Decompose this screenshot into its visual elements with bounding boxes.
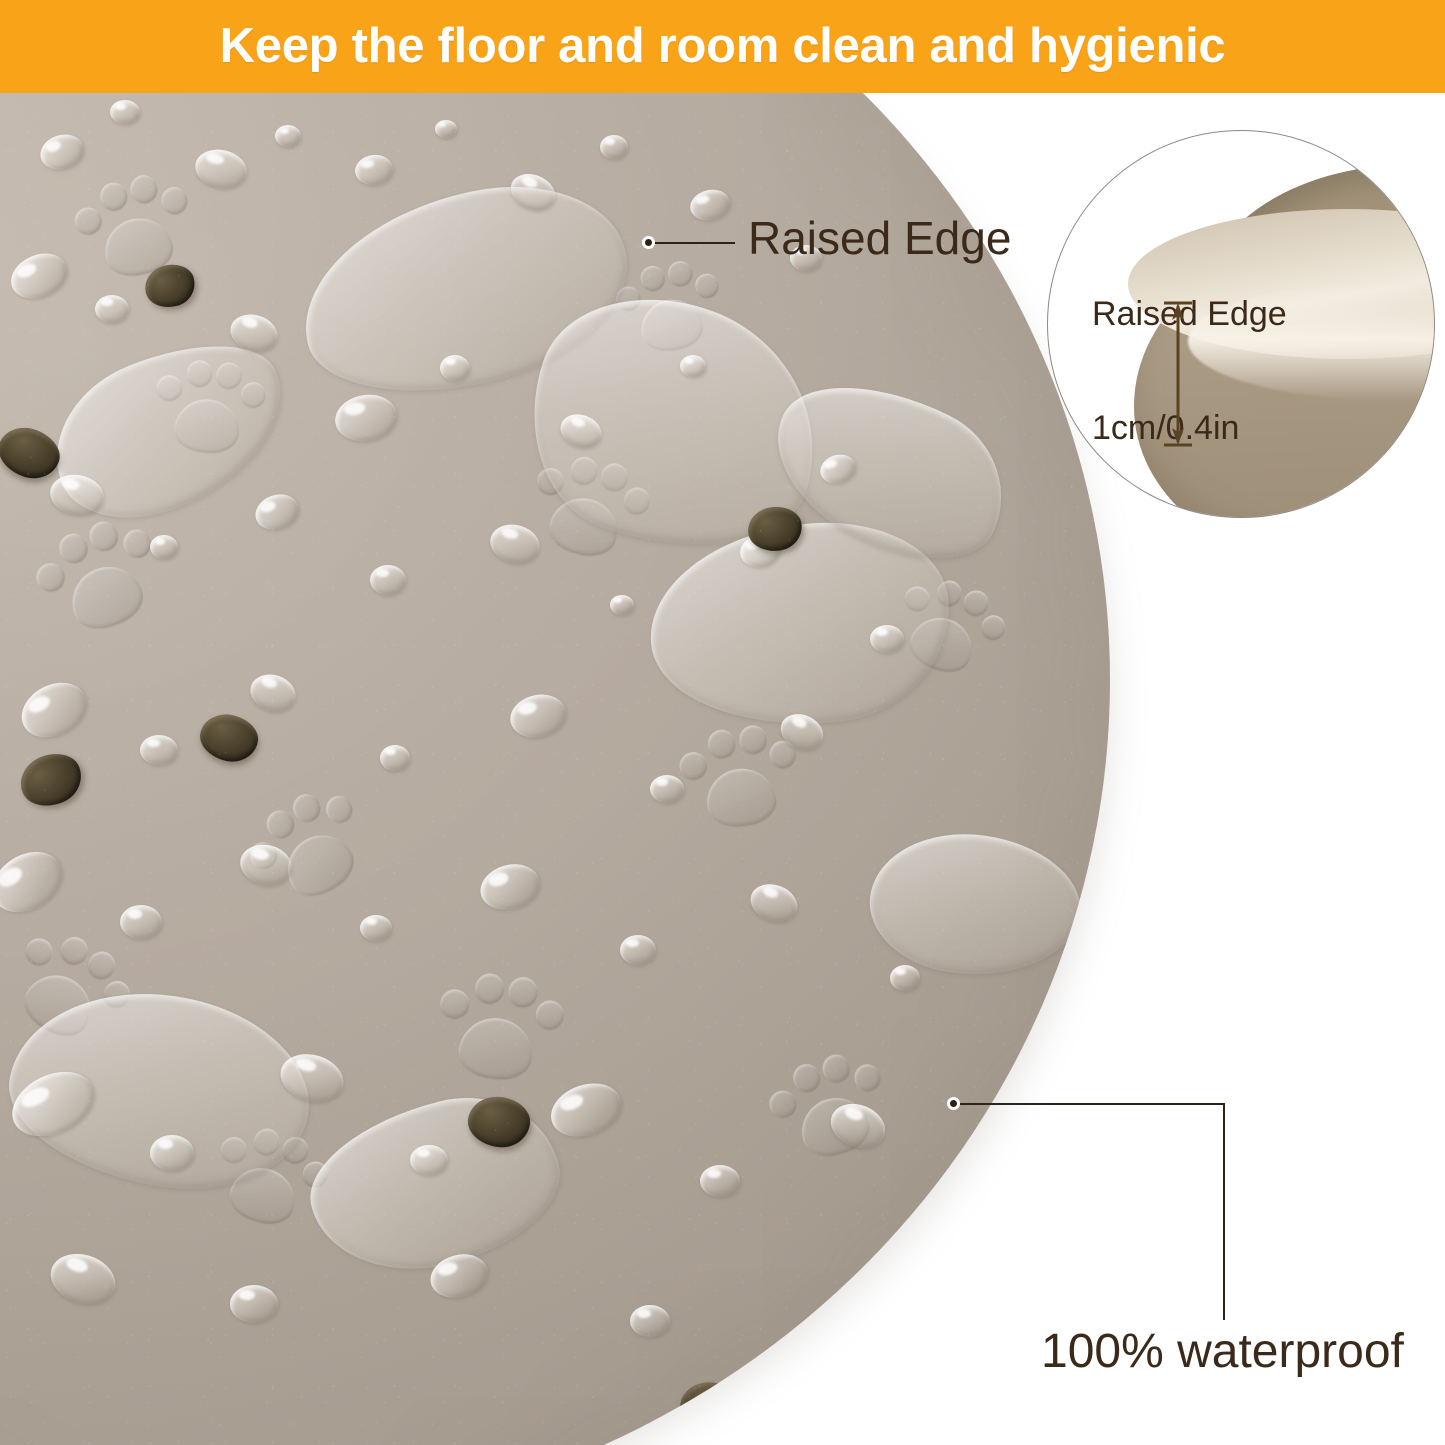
raised-edge-marker-dot (642, 236, 655, 249)
raised-edge-leader-line (655, 242, 735, 244)
product-feature-image: Keep the floor and room clean and hygien… (0, 0, 1445, 1445)
raised-edge-highlight (0, 93, 1110, 1445)
waterproof-leader-vertical (1223, 1103, 1225, 1320)
pet-feeding-mat (0, 93, 1110, 1445)
kibble-piece (1032, 1178, 1097, 1235)
raised-edge-detail-inset: Raised Edge 1cm/0.4in (1047, 130, 1435, 518)
waterproof-leader-horizontal (960, 1103, 1224, 1105)
dimension-arrow (1161, 300, 1195, 448)
waterproof-marker-dot (947, 1097, 960, 1110)
raised-edge-label: Raised Edge (748, 211, 1011, 265)
headline-banner: Keep the floor and room clean and hygien… (0, 0, 1445, 93)
waterproof-label: 100% waterproof (1041, 1324, 1404, 1379)
headline-text: Keep the floor and room clean and hygien… (220, 22, 1226, 71)
